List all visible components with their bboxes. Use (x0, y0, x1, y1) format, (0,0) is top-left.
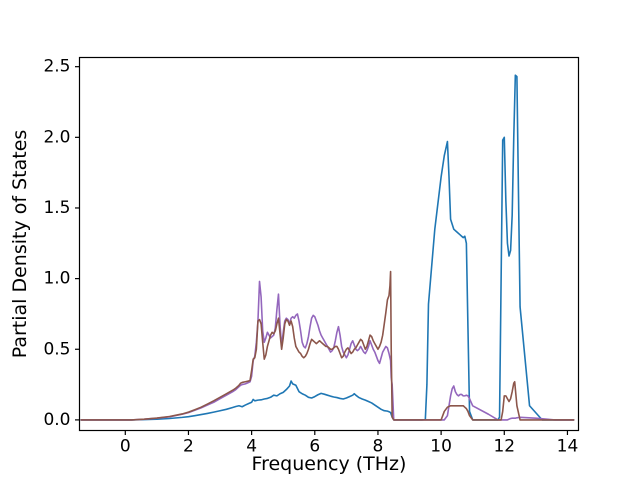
figure-canvas: 024681012140.00.51.01.52.02.5 Frequency … (0, 0, 640, 480)
y-tick-label-2: 1.0 (43, 269, 70, 289)
ticks-group: 024681012140.00.51.01.52.02.5 (43, 57, 578, 457)
x-axis-label: Frequency (THz) (252, 453, 407, 475)
y-tick-label-5: 2.5 (43, 57, 70, 77)
y-tick-label-4: 2.0 (43, 127, 70, 147)
x-tick-label-7: 14 (557, 437, 579, 457)
plot-frame (80, 58, 579, 431)
pdos-line-chart: 024681012140.00.51.01.52.02.5 Frequency … (0, 0, 640, 480)
series-line-blue (81, 75, 574, 420)
y-tick-label-3: 1.5 (43, 198, 70, 218)
x-tick-label-1: 2 (183, 437, 194, 457)
y-axis-label: Partial Density of States (9, 130, 31, 359)
axes-group (80, 58, 579, 431)
y-tick-label-0: 0.0 (43, 410, 70, 430)
x-tick-label-6: 12 (493, 437, 515, 457)
y-tick-label-1: 0.5 (43, 339, 70, 359)
x-tick-label-0: 0 (120, 437, 131, 457)
series-group (81, 75, 574, 420)
x-tick-label-5: 10 (430, 437, 452, 457)
